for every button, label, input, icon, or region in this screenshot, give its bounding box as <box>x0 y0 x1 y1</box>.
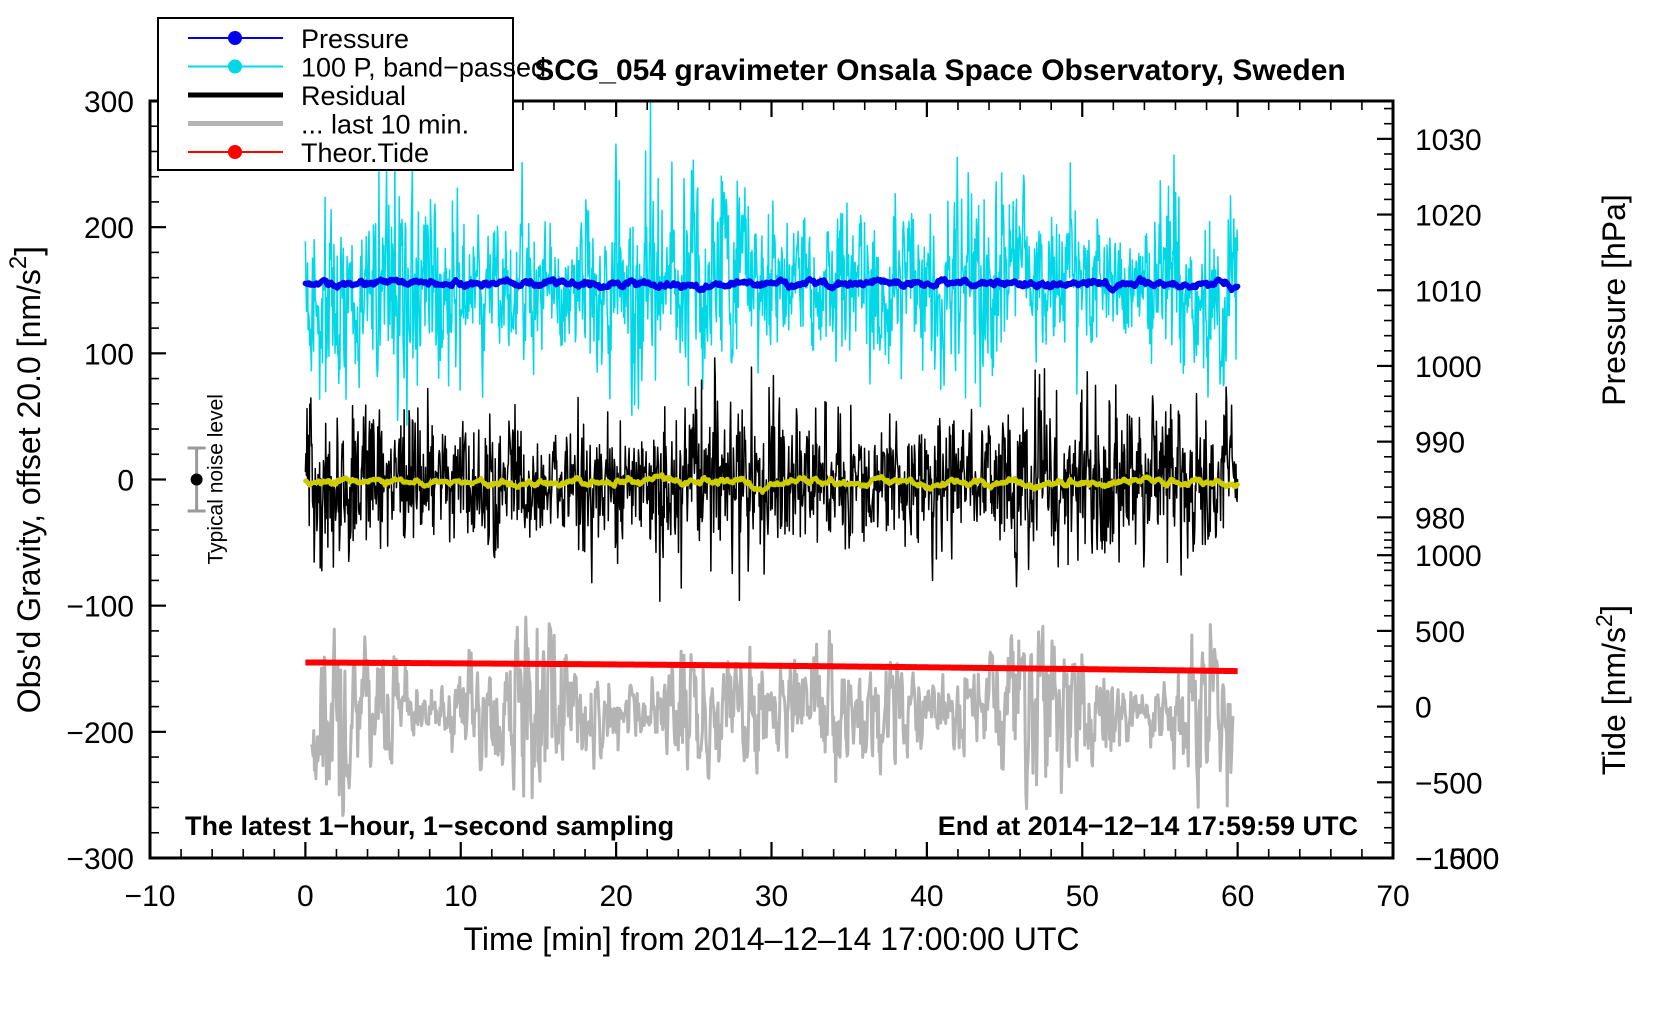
x-tick-label: 60 <box>1221 880 1254 913</box>
y-tick-label-tide: 500 <box>1415 616 1465 649</box>
y-tick-label-pressure: 1010 <box>1415 275 1482 308</box>
svg-text:Pressure [hPa]: Pressure [hPa] <box>1596 194 1632 406</box>
legend-label: Pressure <box>301 24 409 54</box>
x-tick-label: −10 <box>125 880 176 913</box>
figure-root: −100102030405060703002001000−100−200−300… <box>0 0 1660 1020</box>
y-tick-label-left: −200 <box>66 717 134 750</box>
svg-text:Typical noise level: Typical noise level <box>205 394 228 564</box>
y-tick-label-tide: −500 <box>1415 767 1483 800</box>
y-tick-label-pressure: 1000 <box>1415 351 1482 384</box>
legend-label: Residual <box>301 81 406 111</box>
legend-label: Theor.Tide <box>301 138 429 168</box>
y-tick-label-left: 0 <box>117 465 134 498</box>
note-end-time: End at 2014−12−14 17:59:59 UTC <box>938 811 1358 841</box>
y-axis-title-tide: Tide [nm/s2] <box>1591 605 1633 775</box>
y-tick-label-tide: 1000 <box>1415 540 1482 573</box>
y-tick-label-left: 100 <box>84 338 134 371</box>
y-tick-label-pressure: 990 <box>1415 427 1465 460</box>
x-tick-label: 40 <box>910 880 943 913</box>
y-tick-label-pressure: 1020 <box>1415 200 1482 233</box>
chart-title: SCG_054 gravimeter Onsala Space Observat… <box>534 54 1346 87</box>
legend-label: 100 P, band−passed <box>301 53 546 83</box>
y-tick-label-left: −300 <box>66 843 134 876</box>
legend-label: ... last 10 min. <box>301 110 469 140</box>
note-latest-hour: The latest 1−hour, 1−second sampling <box>185 811 674 841</box>
y-tick-label-left: 300 <box>84 86 134 119</box>
y-tick-label-tide: −1500 <box>1415 843 1499 876</box>
y-axis-title-left: Obs'd Gravity, offset 20.0 [nm/s2] <box>5 246 48 714</box>
chart-canvas: −100102030405060703002001000−100−200−300… <box>0 0 1660 1020</box>
typical-noise-level-label: Typical noise level <box>205 394 228 564</box>
x-tick-label: 50 <box>1066 880 1099 913</box>
y-tick-label-left: 200 <box>84 212 134 245</box>
x-tick-label: 70 <box>1376 880 1409 913</box>
x-tick-label: 10 <box>444 880 477 913</box>
y-tick-label-tide: 0 <box>1415 692 1432 725</box>
svg-text:Tide [nm/s2]: Tide [nm/s2] <box>1591 605 1633 775</box>
y-axis-title-pressure: Pressure [hPa] <box>1596 194 1632 406</box>
x-tick-label: 0 <box>297 880 314 913</box>
svg-text:Obs'd Gravity, offset 20.0 [nm: Obs'd Gravity, offset 20.0 [nm/s2] <box>5 246 48 714</box>
y-tick-label-left: −100 <box>66 591 134 624</box>
x-tick-label: 30 <box>755 880 788 913</box>
y-tick-label-pressure: 1030 <box>1415 124 1482 157</box>
x-axis-title: Time [min] from 2014‒12‒14 17:00:00 UTC <box>463 921 1079 957</box>
chart-legend[interactable]: Pressure100 P, band−passedResidual... la… <box>158 18 546 170</box>
y-tick-label-pressure: 980 <box>1415 502 1465 535</box>
x-tick-label: 20 <box>599 880 632 913</box>
